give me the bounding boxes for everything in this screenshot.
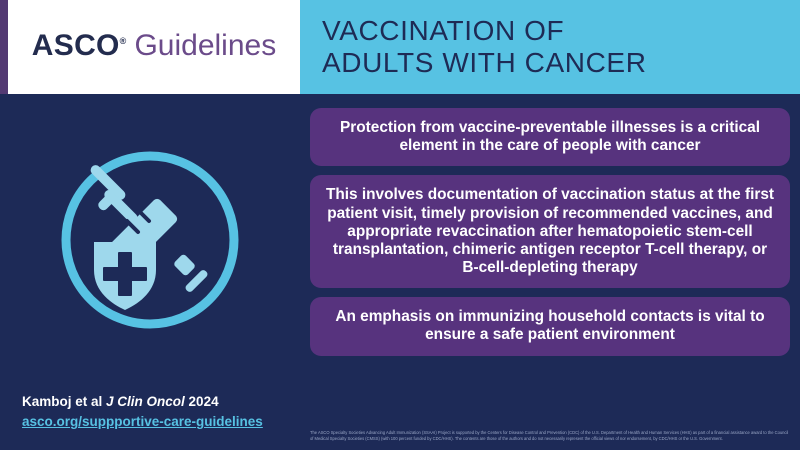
page-title-line-1: Vaccination of bbox=[322, 15, 800, 47]
logo-brand-text: ASCO bbox=[32, 29, 120, 62]
logo-wordmark: ASCO® Guidelines bbox=[32, 31, 276, 61]
page-title-line-2: Adults with Cancer bbox=[322, 47, 800, 79]
key-point-text: This involves documentation of vaccinati… bbox=[323, 186, 777, 277]
citation-journal: J Clin Oncol bbox=[106, 394, 185, 409]
logo-suffix-text: Guidelines bbox=[126, 29, 276, 62]
left-column: Kamboj et al J Clin Oncol 2024 asco.org/… bbox=[0, 94, 300, 450]
guidelines-url-link[interactable]: asco.org/suppportive-care-guidelines bbox=[22, 412, 263, 432]
citation-year: 2024 bbox=[185, 394, 219, 409]
logo-accent-bar bbox=[0, 0, 8, 94]
header: ASCO® Guidelines Vaccination of Adults w… bbox=[0, 0, 800, 94]
key-points-column: Protection from vaccine-preventable illn… bbox=[300, 94, 800, 450]
citation-authors: Kamboj et al bbox=[22, 394, 106, 409]
key-point-text: An emphasis on immunizing household cont… bbox=[323, 308, 777, 344]
asco-guidelines-logo: ASCO® Guidelines bbox=[0, 0, 300, 94]
citation: Kamboj et al J Clin Oncol 2024 asco.org/… bbox=[22, 392, 263, 432]
key-point-card-documentation: This involves documentation of vaccinati… bbox=[310, 175, 790, 288]
key-point-card-household: An emphasis on immunizing household cont… bbox=[310, 297, 790, 355]
page-title: Vaccination of Adults with Cancer bbox=[300, 0, 800, 94]
key-point-card-protection: Protection from vaccine-preventable illn… bbox=[310, 108, 790, 166]
syringe-shield-icon bbox=[50, 140, 250, 345]
citation-reference: Kamboj et al J Clin Oncol 2024 bbox=[22, 392, 263, 412]
key-point-text: Protection from vaccine-preventable illn… bbox=[323, 119, 777, 155]
funding-disclaimer: The ASCO Specialty Societies Advancing A… bbox=[310, 430, 792, 442]
infographic-root: ASCO® Guidelines Vaccination of Adults w… bbox=[0, 0, 800, 450]
